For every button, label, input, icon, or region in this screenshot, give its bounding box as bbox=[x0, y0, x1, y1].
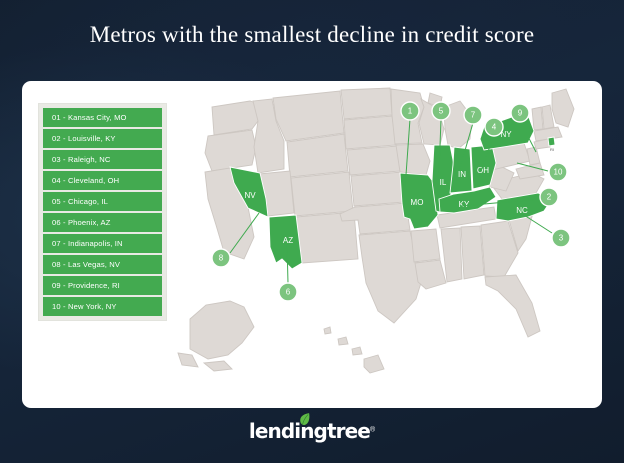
map-marker-6[interactable]: 6 bbox=[279, 283, 297, 301]
registered-mark: ® bbox=[370, 427, 375, 434]
map-marker-label: 7 bbox=[471, 111, 476, 120]
state-ri[interactable]: RI bbox=[548, 137, 555, 152]
map-marker-9[interactable]: 9 bbox=[511, 104, 529, 122]
map-marker-label: 10 bbox=[554, 168, 563, 177]
state-label-ri: RI bbox=[550, 147, 554, 152]
list-item[interactable]: 07 - Indianapolis, IN bbox=[43, 234, 162, 253]
page-title: Metros with the smallest decline in cred… bbox=[0, 22, 624, 48]
map-marker-10[interactable]: 10 bbox=[549, 163, 567, 181]
list-item[interactable]: 10 - New York, NY bbox=[43, 297, 162, 316]
metro-ranking-legend: 01 - Kansas City, MO 02 - Louisville, KY… bbox=[38, 103, 167, 321]
state-label-mo: MO bbox=[411, 198, 424, 207]
list-item[interactable]: 05 - Chicago, IL bbox=[43, 192, 162, 211]
map-marker-label: 4 bbox=[492, 123, 497, 132]
state-in[interactable]: IN bbox=[450, 147, 472, 193]
list-item[interactable]: 06 - Phoenix, AZ bbox=[43, 213, 162, 232]
list-item[interactable]: 02 - Louisville, KY bbox=[43, 129, 162, 148]
map-marker-label: 6 bbox=[286, 288, 291, 297]
list-item[interactable]: 01 - Kansas City, MO bbox=[43, 108, 162, 127]
us-choropleth-map: NV AZ MO IL bbox=[172, 87, 602, 403]
list-item[interactable]: 08 - Las Vegas, NV bbox=[43, 255, 162, 274]
map-marker-label: 9 bbox=[518, 109, 523, 118]
state-label-il: IL bbox=[440, 178, 447, 187]
map-marker-1[interactable]: 1 bbox=[401, 102, 419, 120]
map-marker-label: 8 bbox=[219, 254, 224, 263]
map-marker-label: 5 bbox=[439, 107, 444, 116]
state-label-nc: NC bbox=[516, 206, 528, 215]
state-label-in: IN bbox=[458, 170, 466, 179]
leaf-icon bbox=[299, 413, 310, 426]
map-marker-label: 3 bbox=[559, 234, 564, 243]
map-marker-4[interactable]: 4 bbox=[485, 118, 503, 136]
state-label-oh: OH bbox=[477, 166, 489, 175]
list-item[interactable]: 09 - Providence, RI bbox=[43, 276, 162, 295]
state-label-az: AZ bbox=[283, 236, 293, 245]
map-marker-2[interactable]: 2 bbox=[540, 188, 558, 206]
content-card: 01 - Kansas City, MO 02 - Louisville, KY… bbox=[22, 81, 602, 408]
list-item[interactable]: 04 - Cleveland, OH bbox=[43, 171, 162, 190]
map-marker-7[interactable]: 7 bbox=[464, 106, 482, 124]
state-label-ky: KY bbox=[459, 200, 470, 209]
state-az[interactable]: AZ bbox=[269, 215, 302, 269]
map-marker-label: 1 bbox=[408, 107, 413, 116]
map-marker-5[interactable]: 5 bbox=[432, 102, 450, 120]
map-marker-3[interactable]: 3 bbox=[552, 229, 570, 247]
list-item[interactable]: 03 - Raleigh, NC bbox=[43, 150, 162, 169]
map-marker-8[interactable]: 8 bbox=[212, 249, 230, 267]
footer-brand-logo: lendingtree® bbox=[0, 419, 624, 449]
state-label-nv: NV bbox=[244, 191, 256, 200]
map-marker-label: 2 bbox=[547, 193, 552, 202]
